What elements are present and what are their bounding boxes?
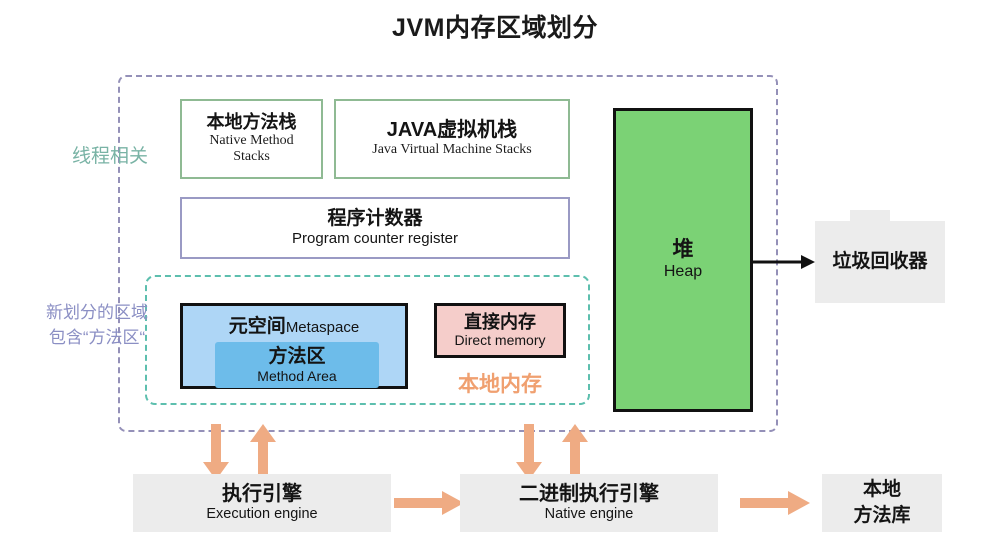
jvm-stacks-en: Java Virtual Machine Stacks: [372, 142, 531, 159]
jvm-stacks-cn: JAVA虚拟机栈: [387, 119, 517, 142]
native-engine-to-direct-memory-up-arrow: [562, 424, 588, 480]
native-method-stacks-box: 本地方法栈 Native Method Stacks: [180, 99, 323, 179]
method-area-box: 方法区 Method Area: [215, 342, 379, 388]
native-library-cn-line2: 方法库: [853, 503, 910, 529]
execution-engine-to-metaspace-up-arrow: [250, 424, 276, 480]
metaspace-en: Metaspace: [286, 319, 359, 336]
new-divided-region-label-line1: 新划分的区域: [22, 301, 172, 326]
new-divided-region-label: 新划分的区域 包含“方法区“: [22, 301, 172, 350]
heap-to-garbage-collector-arrow: [753, 251, 815, 273]
direct-memory-box: 直接内存 Direct memory: [434, 303, 566, 358]
garbage-collector-cn: 垃圾回收器: [832, 251, 927, 273]
method-area-en: Method Area: [257, 368, 336, 385]
method-area-cn: 方法区: [268, 346, 325, 368]
direct-memory-en: Direct memory: [454, 332, 545, 349]
metaspace-cn: 元空间: [229, 316, 286, 337]
native-engine-en: Native engine: [545, 506, 634, 523]
page-title: JVM内存区域划分: [0, 8, 990, 44]
direct-memory-to-native-engine-down-arrow: [516, 424, 542, 480]
garbage-collector-tab: [850, 210, 890, 222]
diagram-canvas: JVM内存区域划分 线程相关 新划分的区域 包含“方法区“ 本地方法栈 Nati…: [0, 0, 990, 540]
native-method-stacks-cn: 本地方法栈: [207, 112, 297, 133]
native-method-stacks-en-line1: Native Method: [209, 133, 293, 150]
new-divided-region-label-line2: 包含“方法区“: [22, 326, 172, 351]
garbage-collector-box: 垃圾回收器: [815, 221, 945, 303]
heap-en: Heap: [664, 262, 702, 281]
native-method-stacks-en-line2: Stacks: [233, 149, 270, 166]
heap-box: 堆 Heap: [613, 108, 753, 412]
execution-engine-to-native-engine-arrow: [394, 491, 464, 515]
thread-related-label: 线程相关: [50, 141, 170, 168]
native-engine-box: 二进制执行引擎 Native engine: [460, 474, 718, 532]
execution-engine-cn: 执行引擎: [222, 483, 302, 506]
metaspace-label: 元空间Metaspace: [183, 311, 405, 338]
program-counter-cn: 程序计数器: [327, 208, 422, 230]
native-engine-to-native-library-arrow: [740, 491, 810, 515]
native-method-library-box: 本地 方法库: [822, 474, 942, 532]
heap-cn: 堆: [673, 238, 694, 262]
java-virtual-machine-stacks-box: JAVA虚拟机栈 Java Virtual Machine Stacks: [334, 99, 570, 179]
metaspace-box: 元空间Metaspace 方法区 Method Area: [180, 303, 408, 389]
program-counter-en: Program counter register: [292, 230, 458, 248]
native-engine-cn: 二进制执行引擎: [519, 483, 659, 506]
metaspace-to-execution-engine-down-arrow: [203, 424, 229, 480]
native-memory-label: 本地内存: [434, 368, 566, 398]
execution-engine-box: 执行引擎 Execution engine: [133, 474, 391, 532]
direct-memory-cn: 直接内存: [464, 312, 536, 333]
program-counter-register-box: 程序计数器 Program counter register: [180, 197, 570, 259]
execution-engine-en: Execution engine: [206, 506, 317, 523]
native-library-cn-line1: 本地: [863, 477, 901, 503]
